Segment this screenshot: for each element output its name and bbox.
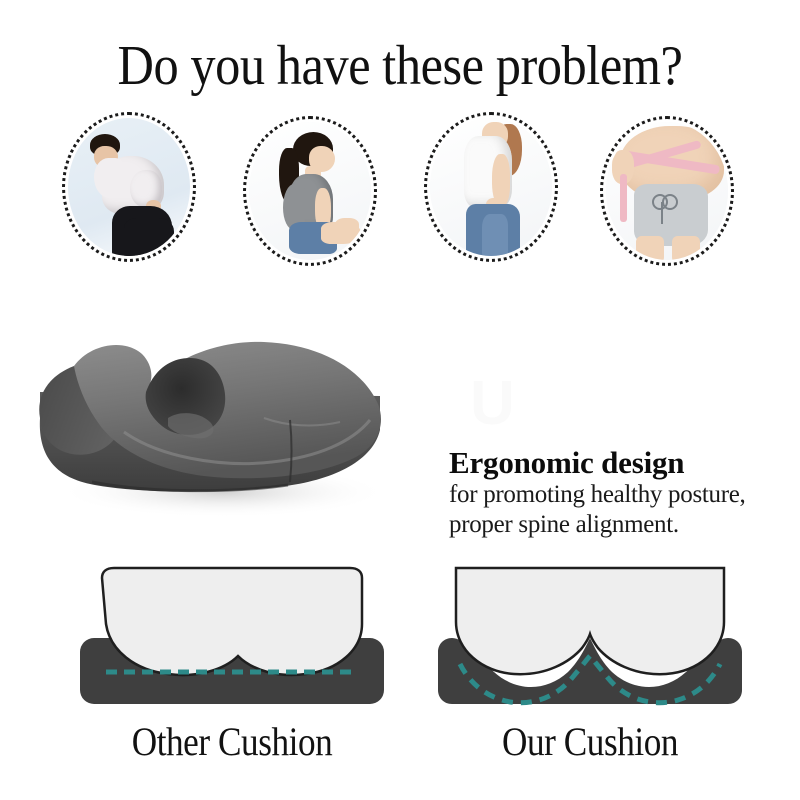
label-other-cushion: Other Cushion <box>82 718 381 765</box>
ergonomic-subtitle-line-2: proper spine alignment. <box>449 510 794 540</box>
problem-photo-back-pain-standing <box>68 118 190 256</box>
ergonomic-title: Ergonomic design <box>449 446 794 480</box>
problem-circle-2 <box>243 116 377 266</box>
cushion-product-image <box>18 300 418 530</box>
page-title: Do you have these problem? <box>40 36 760 96</box>
watermark-ghost: U <box>470 368 650 438</box>
problem-photo-hand-on-lower-back <box>430 118 552 256</box>
problem-photo-slouched-sitting <box>249 122 371 260</box>
problem-circle-4 <box>600 116 734 266</box>
comparison-other-cushion <box>62 560 402 730</box>
ergonomic-subtitle-line-1: for promoting healthy posture, <box>449 480 794 510</box>
problem-circle-1 <box>62 112 196 262</box>
comparison-our-cushion <box>420 560 760 730</box>
product-infographic: Do you have these problem? <box>0 0 800 800</box>
problem-circle-3 <box>424 112 558 262</box>
ergonomic-text-block: Ergonomic design for promoting healthy p… <box>449 446 794 540</box>
problem-circle-row <box>0 112 800 270</box>
problem-photo-waist-measurement <box>606 122 728 260</box>
label-our-cushion: Our Cushion <box>440 718 739 765</box>
